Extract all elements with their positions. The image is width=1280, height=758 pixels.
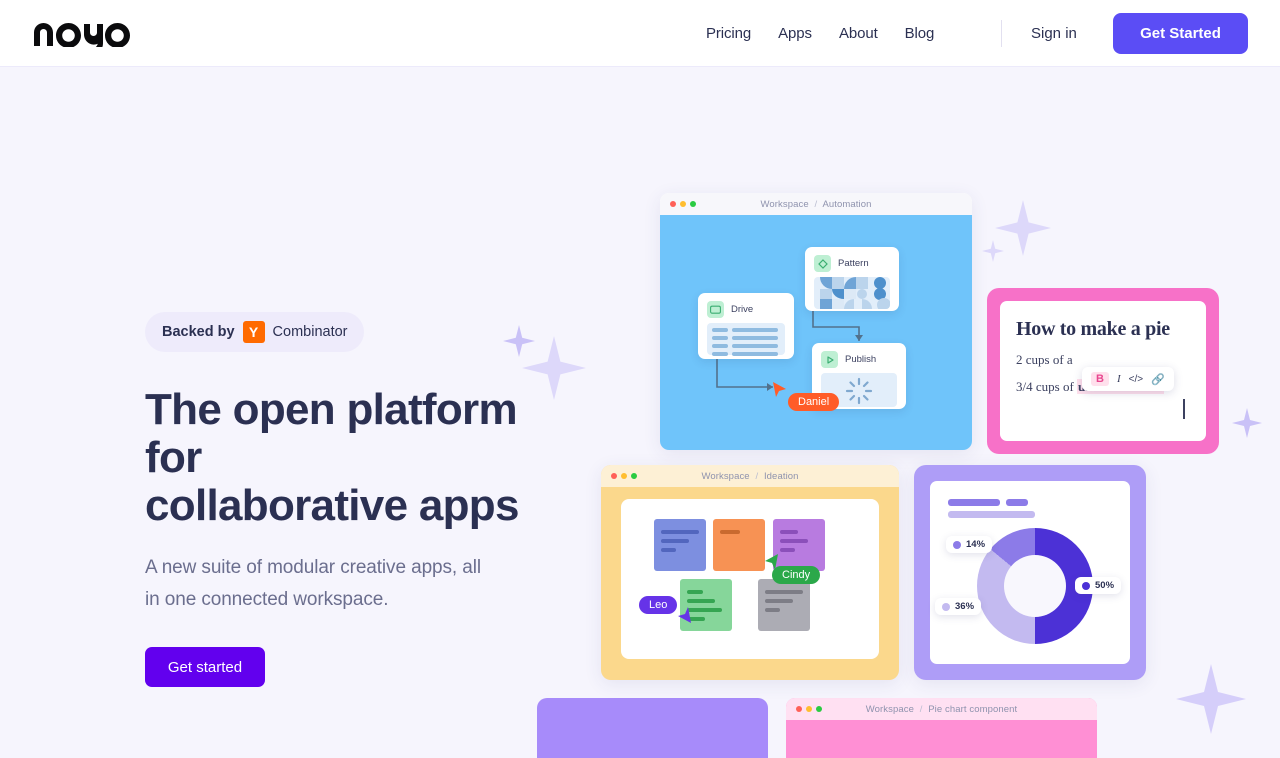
node-label: Pattern	[838, 258, 869, 269]
hero-section: Backed by Y Combinator The open platform…	[145, 312, 545, 687]
window-pie-chart-component: Workspace / Pie chart component	[786, 698, 1097, 758]
close-dot-icon[interactable]	[670, 201, 676, 207]
node-header: Pattern	[805, 247, 899, 277]
window-titlebar: Workspace / Pie chart component	[786, 698, 1097, 720]
bold-icon[interactable]: B	[1091, 372, 1109, 386]
nav-links: Pricing Apps About Blog	[706, 0, 934, 67]
traffic-light-dots	[611, 473, 637, 479]
pie-chart-content: 14% 50% 36%	[930, 481, 1130, 664]
legend-swatch	[953, 541, 961, 549]
breadcrumb-root[interactable]: Workspace	[701, 471, 749, 482]
node-drive[interactable]: Drive	[698, 293, 794, 359]
drive-preview	[707, 323, 785, 355]
traffic-light-dots	[796, 706, 822, 712]
window-purple-partial	[537, 698, 768, 758]
placeholder-bar	[1006, 499, 1028, 506]
play-icon	[821, 351, 838, 368]
sparkle-icon	[1232, 408, 1262, 438]
cursor-label-daniel: Daniel	[788, 393, 839, 411]
link-icon[interactable]: 🔗	[1151, 373, 1165, 386]
backed-by-yc-badge: Backed by Y Combinator	[145, 312, 364, 352]
breadcrumb-leaf: Automation	[822, 199, 871, 210]
window-ideation: Workspace / Ideation	[601, 465, 899, 680]
close-dot-icon[interactable]	[796, 706, 802, 712]
cursor-pointer-leo	[675, 606, 693, 626]
pattern-preview	[814, 277, 890, 309]
cursor-name: Leo	[649, 599, 667, 611]
pie-label-value: 36%	[955, 601, 974, 612]
breadcrumb: Workspace / Ideation	[601, 471, 899, 482]
cursor-name: Daniel	[798, 396, 829, 408]
pie-label-value: 14%	[966, 539, 985, 550]
legend-swatch	[1082, 582, 1090, 590]
node-label: Drive	[731, 304, 753, 315]
text-caret	[1183, 399, 1185, 419]
placeholder-bar	[948, 511, 1035, 518]
sticky-note[interactable]	[773, 519, 825, 571]
nav-link-blog[interactable]: Blog	[905, 25, 935, 42]
node-header: Drive	[698, 293, 794, 323]
folder-icon	[707, 301, 724, 318]
breadcrumb-separator: /	[752, 471, 761, 482]
breadcrumb-separator: /	[811, 199, 820, 210]
nav-link-pricing[interactable]: Pricing	[706, 25, 751, 42]
cursor-label-leo: Leo	[639, 596, 677, 614]
breadcrumb-leaf: Pie chart component	[928, 704, 1017, 715]
pie-label-50: 50%	[1075, 577, 1121, 594]
sparkle-icon	[995, 200, 1051, 256]
maximize-dot-icon[interactable]	[816, 706, 822, 712]
breadcrumb: Workspace / Pie chart component	[786, 704, 1097, 715]
recipe-content: How to make a pie 2 cups of a 3/4 cups o…	[1000, 301, 1206, 441]
hero-subtitle: A new suite of modular creative apps, al…	[145, 552, 485, 616]
diamond-icon	[814, 255, 831, 272]
node-pattern[interactable]: Pattern	[805, 247, 899, 311]
code-icon[interactable]: </>	[1129, 374, 1143, 385]
badge-prefix: Backed by	[162, 324, 235, 340]
sticky-note[interactable]	[654, 519, 706, 571]
node-header: Publish	[812, 343, 906, 373]
pie-label-36: 36%	[935, 598, 981, 615]
window-titlebar: Workspace / Ideation	[601, 465, 899, 487]
hero-title-line1: The open platform for	[145, 385, 517, 482]
sticky-note[interactable]	[758, 579, 810, 631]
breadcrumb-root[interactable]: Workspace	[866, 704, 914, 715]
get-started-hero-button[interactable]: Get started	[145, 647, 265, 687]
nav-link-apps[interactable]: Apps	[778, 25, 812, 42]
hero-title-line2: collaborative apps	[145, 482, 545, 530]
recipe-line-1: 2 cups of a	[1016, 352, 1190, 368]
format-toolbar: B I </> 🔗	[1082, 367, 1174, 391]
nav-divider	[1001, 20, 1002, 47]
recipe-title: How to make a pie	[1016, 318, 1190, 341]
breadcrumb-root[interactable]: Workspace	[760, 199, 808, 210]
recipe-line-2-prefix: 3/4 cups of	[1016, 379, 1077, 394]
maximize-dot-icon[interactable]	[690, 201, 696, 207]
minimize-dot-icon[interactable]	[680, 201, 686, 207]
get-started-nav-button[interactable]: Get Started	[1113, 13, 1248, 54]
traffic-light-dots	[670, 201, 696, 207]
sparkle-icon	[1176, 664, 1246, 734]
cursor-label-cindy: Cindy	[772, 566, 820, 584]
ycombinator-logo-icon: Y	[243, 321, 265, 343]
close-dot-icon[interactable]	[611, 473, 617, 479]
sticky-note[interactable]	[713, 519, 765, 571]
automation-canvas: Pattern	[660, 215, 972, 450]
window-pie-chart: 14% 50% 36%	[914, 465, 1146, 680]
legend-swatch	[942, 603, 950, 611]
minimize-dot-icon[interactable]	[806, 706, 812, 712]
node-label: Publish	[845, 354, 876, 365]
page-title: The open platform for collaborative apps	[145, 386, 545, 530]
maximize-dot-icon[interactable]	[631, 473, 637, 479]
breadcrumb-separator: /	[917, 704, 926, 715]
breadcrumb-leaf: Ideation	[764, 471, 799, 482]
donut-hole	[1004, 555, 1066, 617]
italic-icon[interactable]: I	[1117, 373, 1121, 385]
pie-label-value: 50%	[1095, 580, 1114, 591]
placeholder-bar	[948, 499, 1000, 506]
cursor-name: Cindy	[782, 569, 810, 581]
pie-label-14: 14%	[946, 536, 992, 553]
window-titlebar: Workspace / Automation	[660, 193, 972, 215]
sign-in-link[interactable]: Sign in	[1031, 0, 1077, 67]
badge-suffix: Combinator	[273, 324, 348, 340]
nav-link-about[interactable]: About	[839, 25, 878, 42]
sparkle-icon	[982, 240, 1004, 262]
ideation-board	[621, 499, 879, 659]
window-automation: Workspace / Automation Pattern	[660, 193, 972, 450]
breadcrumb: Workspace / Automation	[660, 199, 972, 210]
window-recipe-card: How to make a pie 2 cups of a 3/4 cups o…	[987, 288, 1219, 454]
noya-logo[interactable]	[32, 20, 130, 48]
cursor-pointer-daniel	[772, 381, 788, 399]
top-navigation-bar: Pricing Apps About Blog Sign in Get Star…	[0, 0, 1280, 67]
minimize-dot-icon[interactable]	[621, 473, 627, 479]
